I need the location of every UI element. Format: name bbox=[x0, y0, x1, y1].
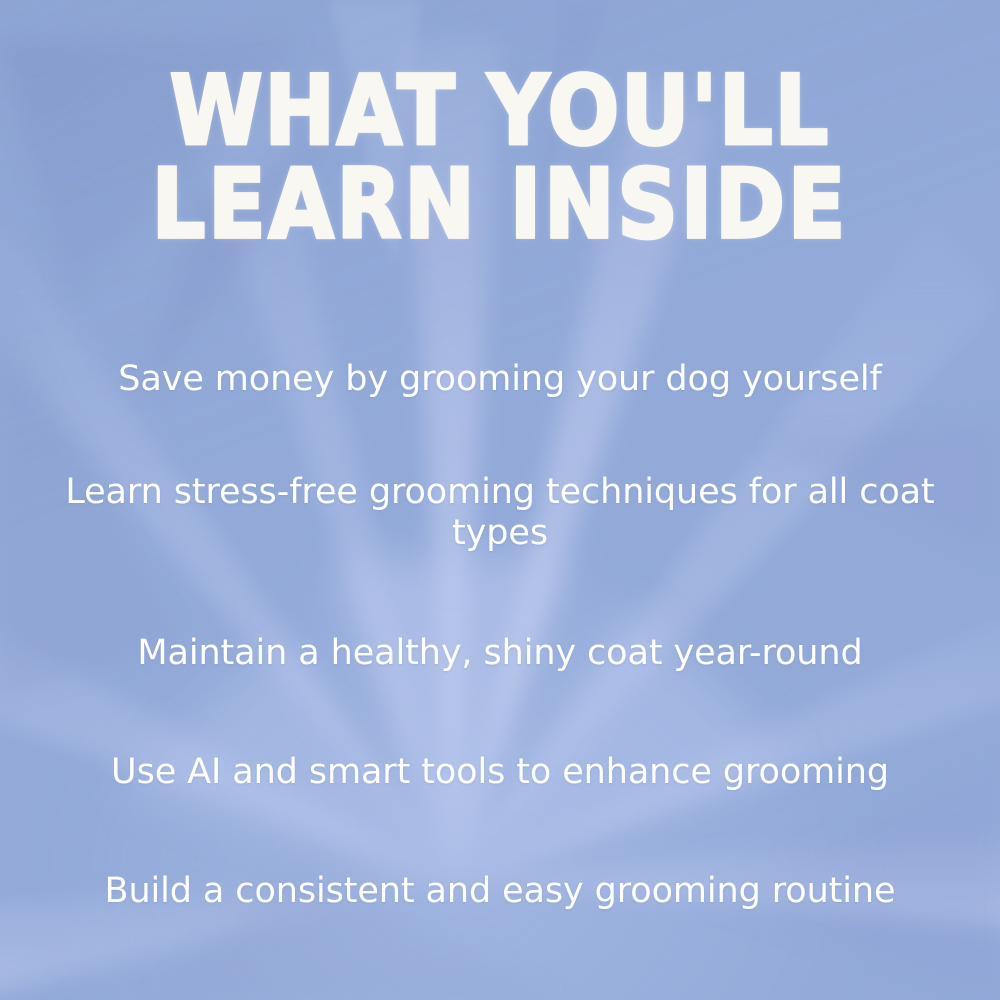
benefit-list: Save money by grooming your dog yourself… bbox=[0, 221, 1000, 1000]
page-title-line-1: What You'll bbox=[0, 64, 1000, 158]
poster-content: What You'll Learn Inside Save money by g… bbox=[0, 0, 1000, 1000]
list-item: Use AI and smart tools to enhance groomi… bbox=[0, 752, 1000, 793]
list-item: Build a consistent and easy grooming rou… bbox=[0, 871, 1000, 912]
page-title-line-2: Learn Inside bbox=[0, 158, 1000, 252]
list-item: Save money by grooming your dog yourself bbox=[0, 359, 1000, 400]
poster-canvas: What You'll Learn Inside Save money by g… bbox=[0, 0, 1000, 1000]
page-title: What You'll Learn Inside bbox=[0, 0, 1000, 252]
list-item: Learn stress-free grooming techniques fo… bbox=[0, 472, 1000, 555]
list-item: Maintain a healthy, shiny coat year-roun… bbox=[0, 633, 1000, 674]
